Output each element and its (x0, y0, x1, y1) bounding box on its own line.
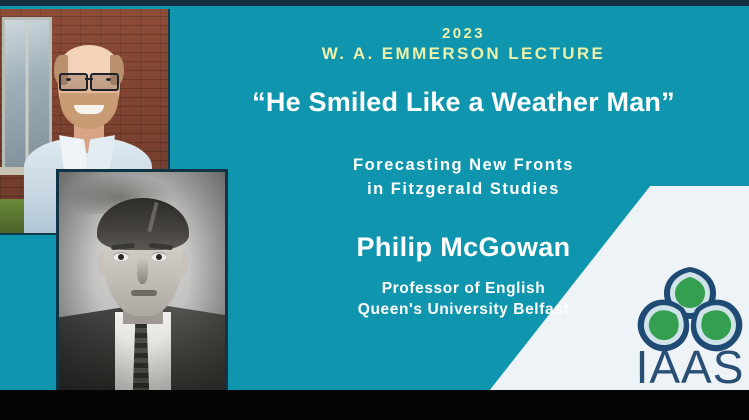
affiliation-line-2: Queen's University Belfast (178, 300, 749, 321)
lecture-subtitle: Forecasting New Fronts in Fitzgerald Stu… (178, 118, 749, 202)
lens-left (59, 73, 88, 91)
photo-vignette (59, 172, 225, 391)
author-photo (56, 169, 228, 391)
lens-right (90, 73, 119, 91)
letterbox-bar-top (0, 0, 749, 6)
smile-shape (74, 105, 104, 114)
speaker-name: Philip McGowan (178, 202, 749, 263)
affiliation-line-1: Professor of English (178, 279, 749, 300)
lecture-title: “He Smiled Like a Weather Man” (178, 65, 749, 118)
slide-stage: IAAS (0, 5, 749, 391)
kicker-block: 2023 W. A. EMMERSON LECTURE (178, 10, 749, 65)
lecture-series-name: W. A. EMMERSON LECTURE (178, 43, 749, 65)
letterbox-bar-bottom (0, 390, 749, 420)
glasses-icon (58, 73, 120, 87)
lecture-poster-slide: IAAS (0, 0, 749, 420)
speaker-affiliation: Professor of English Queen's University … (178, 263, 749, 321)
subtitle-line-1: Forecasting New Fronts (178, 154, 749, 178)
text-column: 2023 W. A. EMMERSON LECTURE “He Smiled L… (178, 10, 749, 391)
subtitle-line-2: in Fitzgerald Studies (178, 178, 749, 202)
lecture-year: 2023 (178, 10, 749, 43)
